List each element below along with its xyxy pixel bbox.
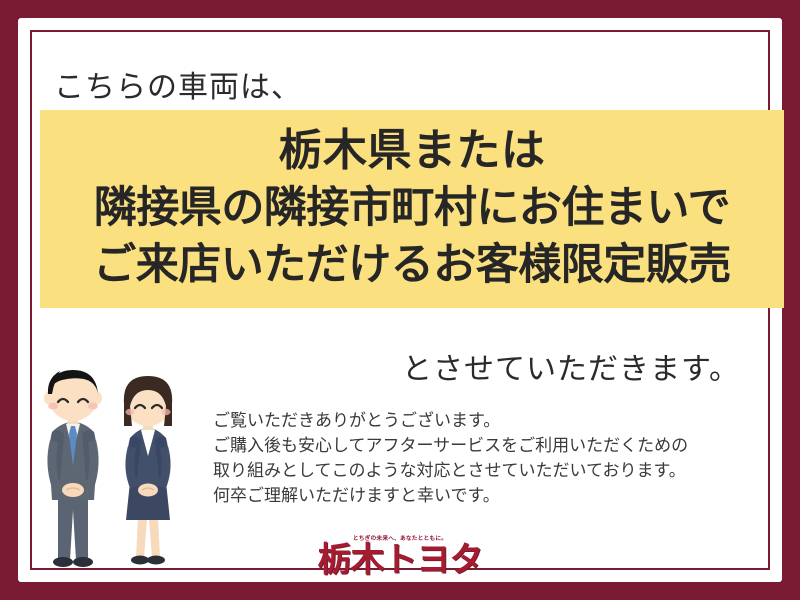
body-line-1: ご覧いただきありがとうございます。: [213, 408, 688, 433]
male-staff-figure: [44, 370, 102, 567]
body-line-4: 何卒ご理解いただけますと幸いです。: [213, 483, 688, 508]
female-staff-figure: [124, 376, 172, 565]
promo-poster: こちらの車両は、 栃木県または 隣接県の隣接市町村にお住まいで ご来店いただける…: [0, 0, 800, 600]
highlight-line-1: 栃木県または: [40, 122, 784, 180]
highlight-line-3: ご来店いただけるお客様限定販売: [40, 237, 784, 294]
highlight-band: 栃木県または 隣接県の隣接市町村にお住まいで ご来店いただけるお客様限定販売: [40, 110, 784, 308]
body-paragraph: ご覧いただきありがとうございます。 ご購入後も安心してアフターサービスをご利用い…: [213, 408, 688, 508]
body-line-3: 取り組みとしてこのような対応とさせていただいております。: [213, 458, 688, 483]
lead-line-text: こちらの車両は、: [54, 62, 302, 106]
poster-card: こちらの車両は、 栃木県または 隣接県の隣接市町村にお住まいで ご来店いただける…: [18, 18, 782, 582]
bowing-staff-illustration: [26, 360, 206, 580]
body-line-2: ご購入後も安心してアフターサービスをご利用いただくための: [213, 433, 688, 458]
highlight-line-2: 隣接県の隣接市町村にお住まいで: [40, 180, 784, 237]
trailing-line-text: とさせていただきます。: [402, 344, 740, 388]
